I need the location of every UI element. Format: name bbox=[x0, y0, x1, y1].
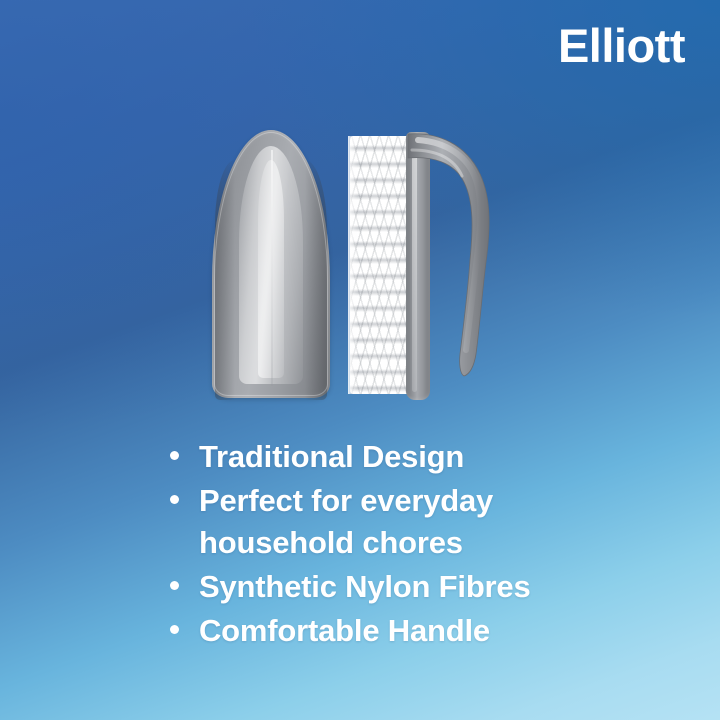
feature-bullet-list: Traditional Design Perfect for everyday … bbox=[170, 436, 600, 654]
iron-shaped-brush-back bbox=[212, 130, 330, 398]
bullet-text: Traditional Design bbox=[199, 436, 464, 478]
brush-handle bbox=[404, 128, 524, 378]
list-item: Traditional Design bbox=[170, 436, 600, 478]
bullet-text: Perfect for everyday household chores bbox=[199, 480, 600, 564]
list-item: Perfect for everyday household chores bbox=[170, 480, 600, 564]
bullet-text: Comfortable Handle bbox=[199, 610, 490, 652]
bristle-edge-highlight bbox=[348, 136, 358, 394]
brush-side-view bbox=[344, 128, 524, 406]
list-item: Comfortable Handle bbox=[170, 610, 600, 652]
bullet-dot-icon bbox=[170, 625, 179, 634]
brand-logo: Elliott bbox=[558, 22, 685, 69]
bullet-dot-icon bbox=[170, 581, 179, 590]
bullet-dot-icon bbox=[170, 495, 179, 504]
bristle-texture bbox=[350, 136, 410, 394]
bullet-text: Synthetic Nylon Fibres bbox=[199, 566, 531, 608]
list-item: Synthetic Nylon Fibres bbox=[170, 566, 600, 608]
product-marketing-image: Elliott bbox=[0, 0, 720, 720]
product-photo bbox=[196, 118, 526, 408]
bullet-dot-icon bbox=[170, 451, 179, 460]
